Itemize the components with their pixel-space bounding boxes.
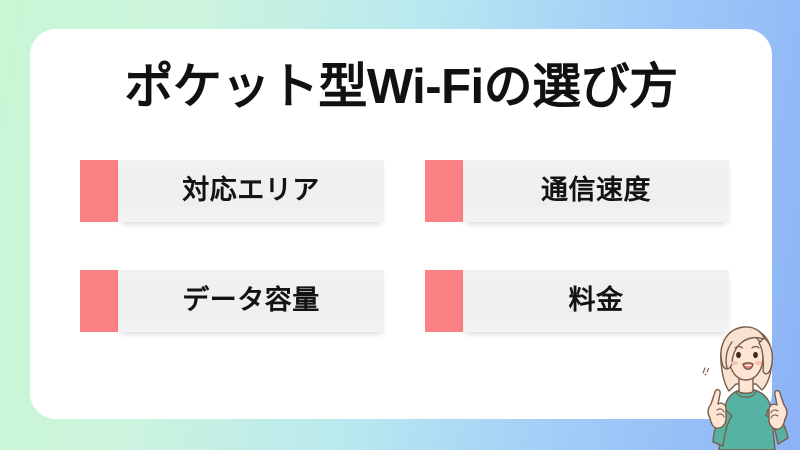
list-item-body: 通信速度: [463, 160, 729, 222]
list-item[interactable]: 通信速度: [425, 160, 729, 222]
infographic-canvas: ポケット型Wi-Fiの選び方 対応エリア 通信速度 データ容量 料金: [0, 0, 800, 450]
accent-block-icon: [80, 270, 118, 332]
list-item-label: データ容量: [182, 287, 320, 314]
list-item-label: 通信速度: [541, 177, 651, 204]
list-item-label: 対応エリア: [182, 177, 320, 204]
list-item-body: 料金: [463, 270, 729, 332]
list-item[interactable]: データ容量: [80, 270, 384, 332]
list-item-body: 対応エリア: [118, 160, 384, 222]
accent-block-icon: [425, 160, 463, 222]
feature-list: 対応エリア 通信速度 データ容量 料金: [0, 0, 800, 450]
list-item-body: データ容量: [118, 270, 384, 332]
list-item[interactable]: 料金: [425, 270, 729, 332]
list-item-label: 料金: [569, 287, 624, 314]
sparkle-icon: [700, 364, 716, 380]
accent-block-icon: [425, 270, 463, 332]
list-item[interactable]: 対応エリア: [80, 160, 384, 222]
accent-block-icon: [80, 160, 118, 222]
